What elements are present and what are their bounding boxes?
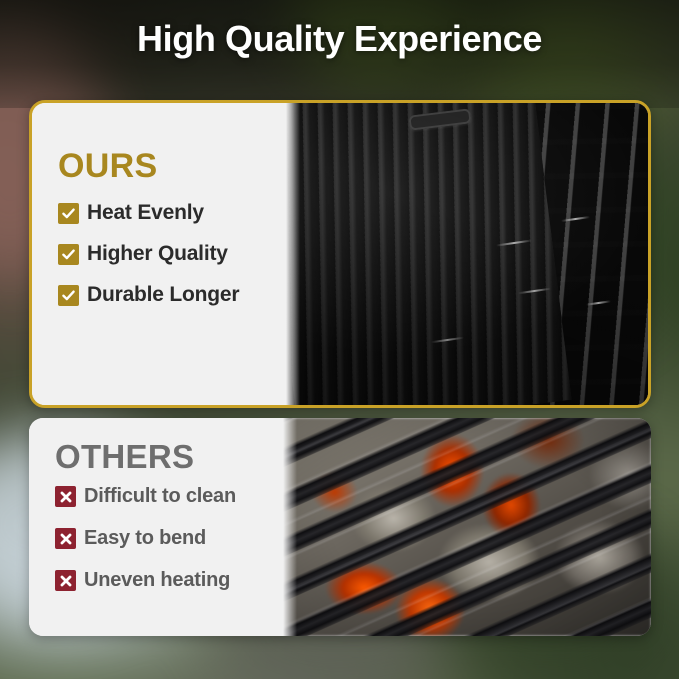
check-icon bbox=[58, 244, 79, 265]
ours-product-image bbox=[286, 103, 648, 405]
others-item-label: Easy to bend bbox=[84, 527, 206, 550]
card-image-seam bbox=[283, 418, 297, 636]
list-item: Durable Longer bbox=[58, 283, 286, 307]
ours-card: OURS Heat Evenly Hig bbox=[32, 103, 286, 405]
ours-item-label: Durable Longer bbox=[87, 283, 239, 307]
ours-feature-list: Heat Evenly Higher Quality bbox=[58, 201, 286, 307]
ours-item-label: Higher Quality bbox=[87, 242, 228, 266]
page-title: High Quality Experience bbox=[0, 18, 679, 60]
list-item: Uneven heating bbox=[55, 569, 283, 592]
griddle-photo bbox=[286, 103, 648, 405]
others-item-label: Difficult to clean bbox=[84, 485, 236, 508]
list-item: Easy to bend bbox=[55, 527, 283, 550]
list-item: Heat Evenly bbox=[58, 201, 286, 225]
list-item: Higher Quality bbox=[58, 242, 286, 266]
panel-others: OTHERS Difficult to clean bbox=[29, 418, 651, 636]
ours-heading: OURS bbox=[58, 149, 286, 183]
comparison-infographic: High Quality Experience OURS Heat Evenly bbox=[0, 0, 679, 679]
others-heading: OTHERS bbox=[55, 440, 283, 473]
others-card: OTHERS Difficult to clean bbox=[29, 418, 283, 636]
others-product-image bbox=[283, 418, 651, 636]
x-icon bbox=[55, 528, 76, 549]
check-icon bbox=[58, 285, 79, 306]
image-vignette bbox=[283, 418, 651, 636]
panel-ours: OURS Heat Evenly Hig bbox=[29, 100, 651, 408]
others-drawback-list: Difficult to clean Easy to bend bbox=[55, 485, 283, 592]
griddle-shading bbox=[286, 103, 648, 405]
others-item-label: Uneven heating bbox=[84, 569, 230, 592]
x-icon bbox=[55, 486, 76, 507]
list-item: Difficult to clean bbox=[55, 485, 283, 508]
x-icon bbox=[55, 570, 76, 591]
ours-item-label: Heat Evenly bbox=[87, 201, 204, 225]
card-image-seam bbox=[286, 103, 300, 405]
check-icon bbox=[58, 203, 79, 224]
